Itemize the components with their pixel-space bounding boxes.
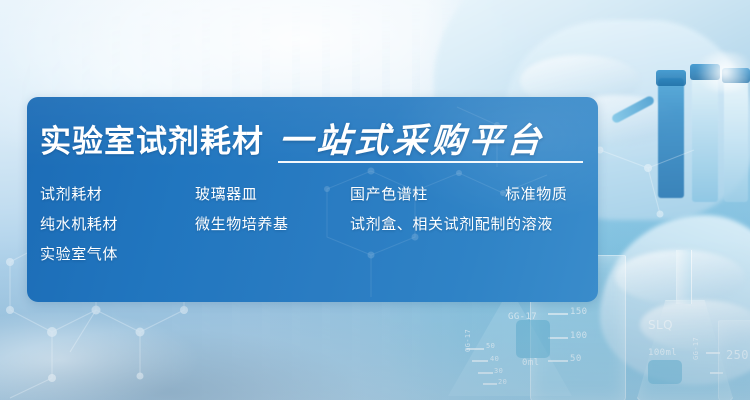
category-item[interactable]: 标准物质 <box>505 183 567 204</box>
category-row: 试剂耗材 玻璃器皿 国产色谱柱 标准物质 <box>40 183 588 213</box>
category-grid: 试剂耗材 玻璃器皿 国产色谱柱 标准物质 纯水机耗材 微生物培养基 试剂盒、相关… <box>40 183 588 273</box>
category-item[interactable]: 微生物培养基 <box>195 213 289 234</box>
category-row: 纯水机耗材 微生物培养基 试剂盒、相关试剂配制的溶液 <box>40 213 588 243</box>
category-item[interactable]: 试剂耗材 <box>40 183 102 204</box>
category-row: 实验室气体 <box>40 243 588 273</box>
title-script-text: 一站式采购平台 <box>277 113 546 162</box>
title-main-text: 实验室试剂耗材 <box>40 116 264 161</box>
category-item[interactable]: 试剂盒、相关试剂配制的溶液 <box>350 213 553 234</box>
banner-title: 实验室试剂耗材 一站式采购平台 <box>40 113 545 162</box>
category-item[interactable]: 实验室气体 <box>40 243 118 264</box>
title-underline <box>278 161 583 163</box>
category-item[interactable]: 纯水机耗材 <box>40 213 118 234</box>
promo-banner: 50 40 30 20 GG-17 250 APPROX 200 150 100… <box>0 0 750 400</box>
content-panel: 实验室试剂耗材 一站式采购平台 试剂耗材 玻璃器皿 国产色谱柱 标准物质 纯水机… <box>27 97 598 302</box>
category-item[interactable]: 国产色谱柱 <box>350 183 428 204</box>
category-item[interactable]: 玻璃器皿 <box>195 183 257 204</box>
